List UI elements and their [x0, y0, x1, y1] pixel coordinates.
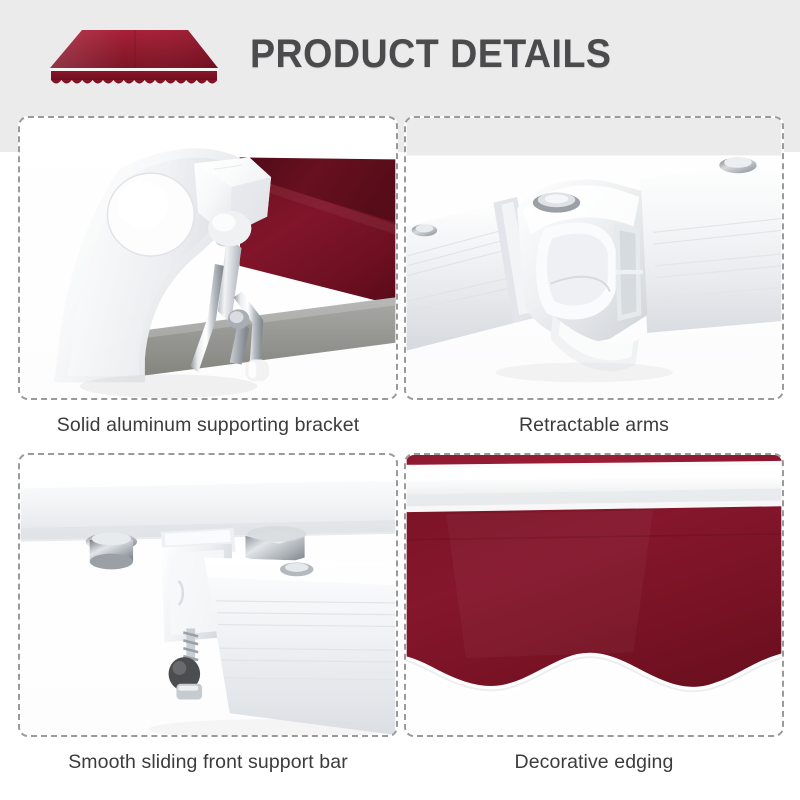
detail-cell-3: Smooth sliding front support bar: [18, 453, 398, 774]
panel-caption: Solid aluminum supporting bracket: [18, 414, 398, 437]
bracket-scene: [20, 118, 396, 398]
aluminum-supporting-bracket-photo: [18, 116, 398, 400]
valance-scene: [406, 455, 782, 735]
awning-icon: [42, 24, 220, 86]
detail-cell-4: Decorative edging: [404, 453, 784, 774]
product-details-page: PRODUCT DETAILS: [0, 0, 800, 800]
support-bar-scene: [20, 455, 396, 735]
sliding-front-support-bar-photo: [18, 453, 398, 737]
panel-caption: Smooth sliding front support bar: [18, 751, 398, 774]
retractable-arms-photo: [404, 116, 784, 400]
detail-cell-2: Retractable arms: [404, 116, 784, 437]
panel-caption: Decorative edging: [404, 751, 784, 774]
header: PRODUCT DETAILS: [0, 0, 800, 108]
retractable-arm-scene: [406, 118, 782, 398]
detail-cell-1: Solid aluminum supporting bracket: [18, 116, 398, 437]
panel-caption: Retractable arms: [404, 414, 784, 437]
page-title: PRODUCT DETAILS: [250, 32, 611, 77]
details-grid: Solid aluminum supporting bracket: [0, 108, 800, 800]
decorative-edging-photo: [404, 453, 784, 737]
